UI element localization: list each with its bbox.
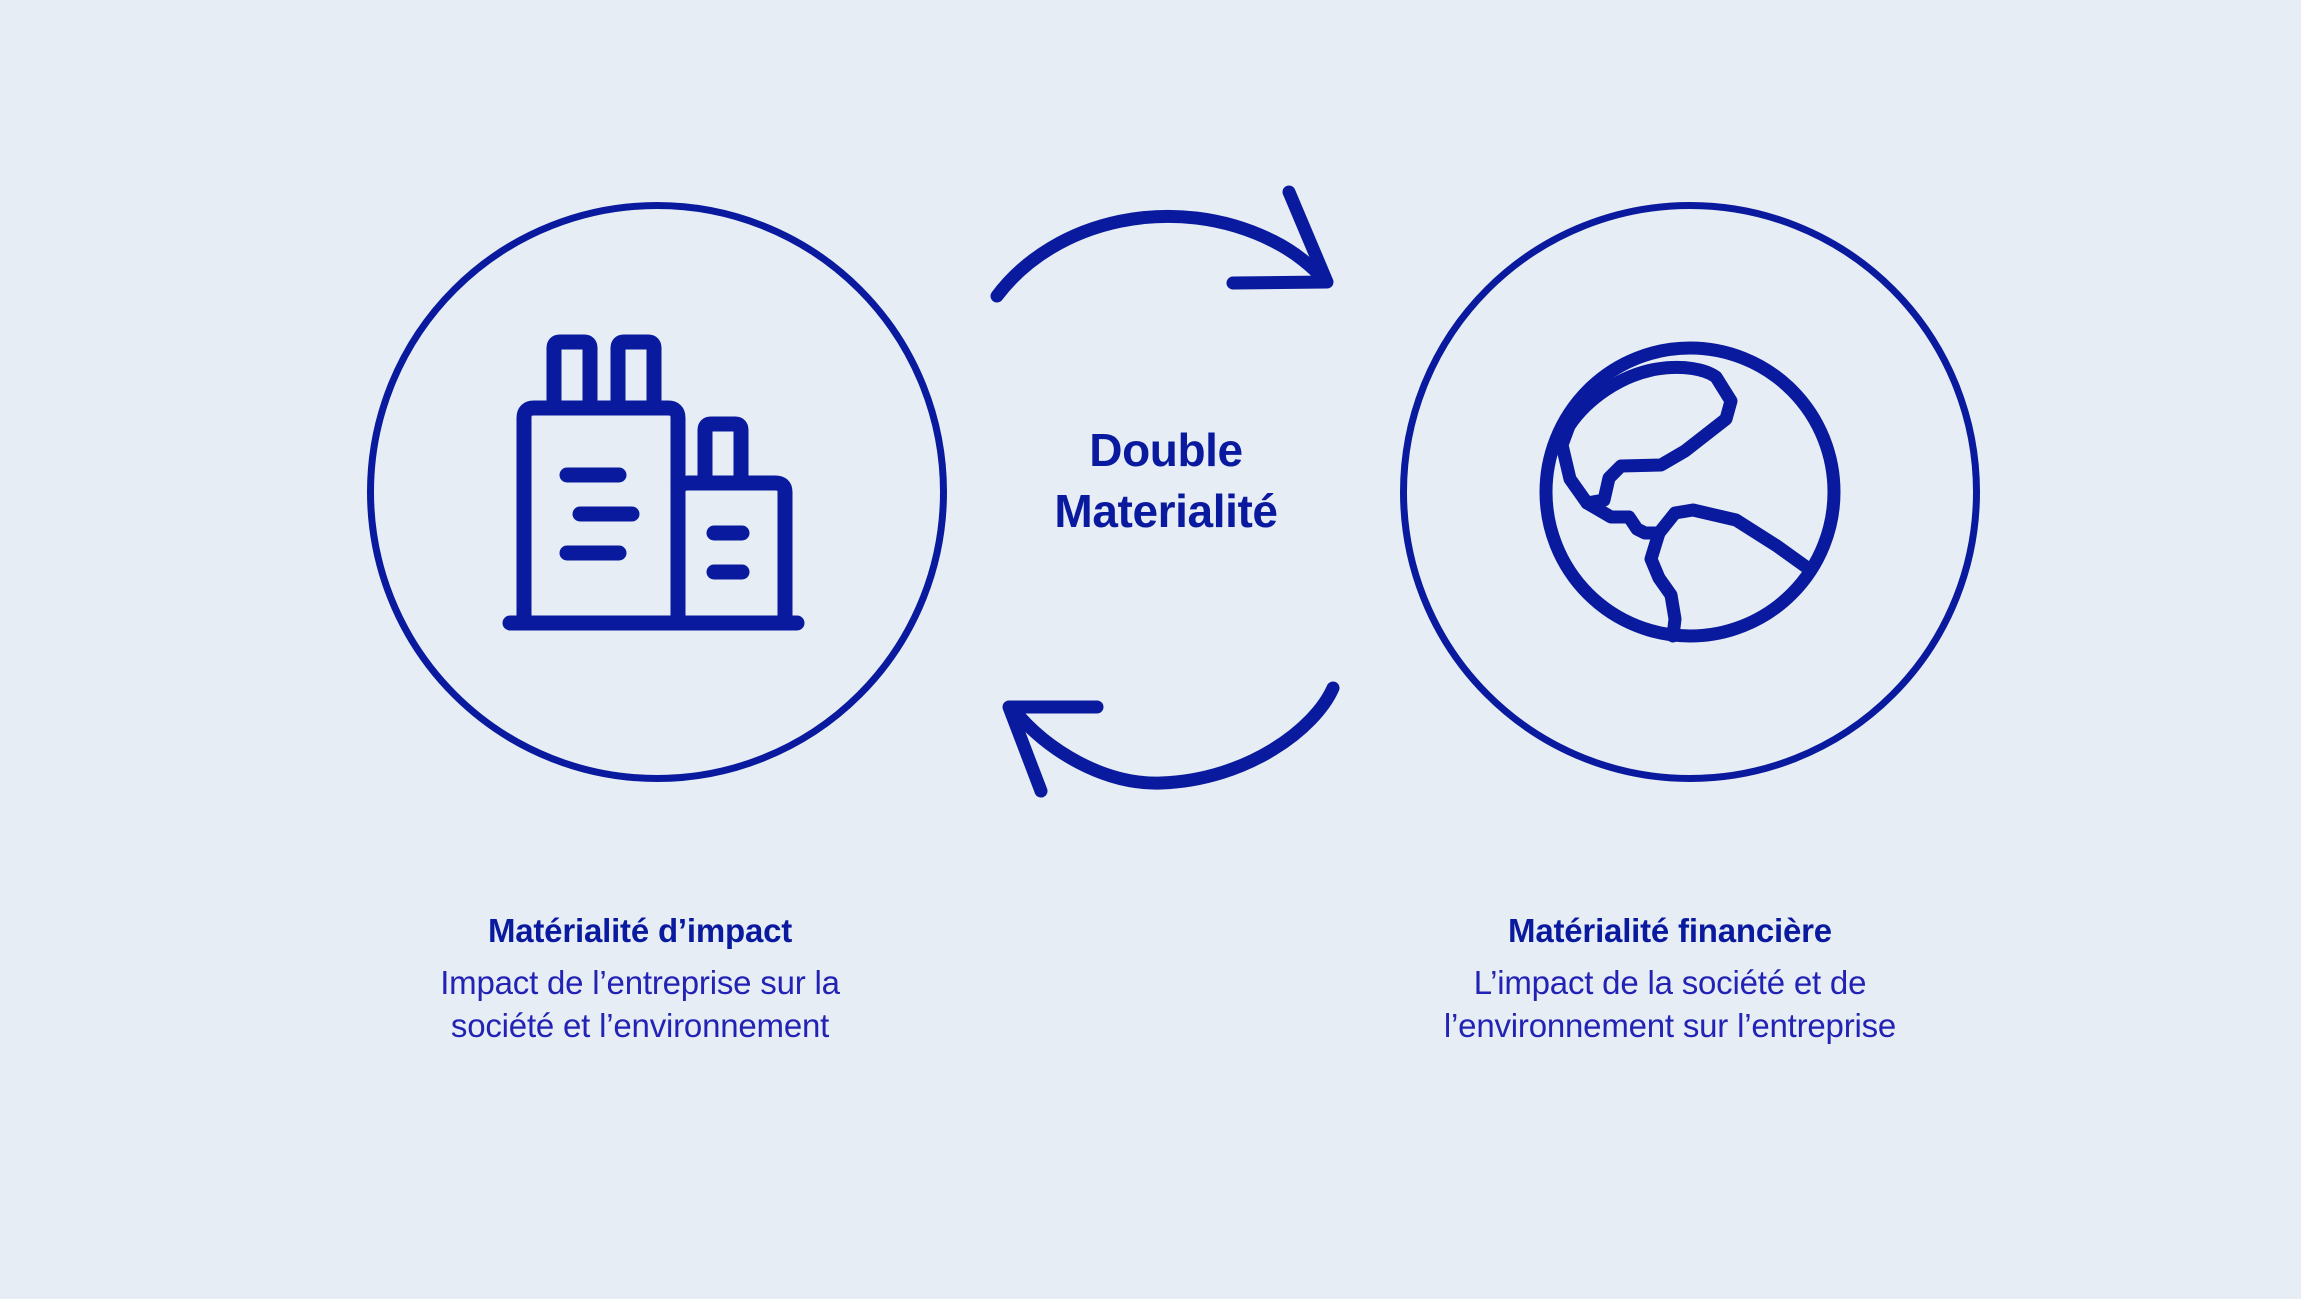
impact-materiality-description: Impact de l’entreprise sur la société et… [280,961,1000,1048]
impact-materiality-title: Matérialité d’impact [280,910,1000,953]
globe-icon [1525,327,1855,657]
impact-materiality-description-line-2: société et l’environnement [280,1004,1000,1048]
center-title-line-1: Double [961,420,1371,481]
arrow-impact-to-financial-icon [985,175,1345,325]
financial-materiality-description-line-1: L’impact de la société et de [1310,961,2030,1005]
diagram-canvas: Double Materialité Matérialité d’impact … [0,0,2301,1299]
impact-materiality-caption: Matérialité d’impact Impact de l’entrepr… [280,910,1000,1048]
financial-materiality-description: L’impact de la société et de l’environne… [1310,961,2030,1048]
factory-icon [492,320,822,650]
center-title: Double Materialité [961,420,1371,541]
financial-materiality-caption: Matérialité financière L’impact de la so… [1310,910,2030,1048]
financial-materiality-description-line-2: l’environnement sur l’entreprise [1310,1004,2030,1048]
center-title-line-2: Materialité [961,481,1371,542]
financial-materiality-title: Matérialité financière [1310,910,2030,953]
arrow-financial-to-impact-icon [985,665,1345,815]
impact-materiality-description-line-1: Impact de l’entreprise sur la [280,961,1000,1005]
